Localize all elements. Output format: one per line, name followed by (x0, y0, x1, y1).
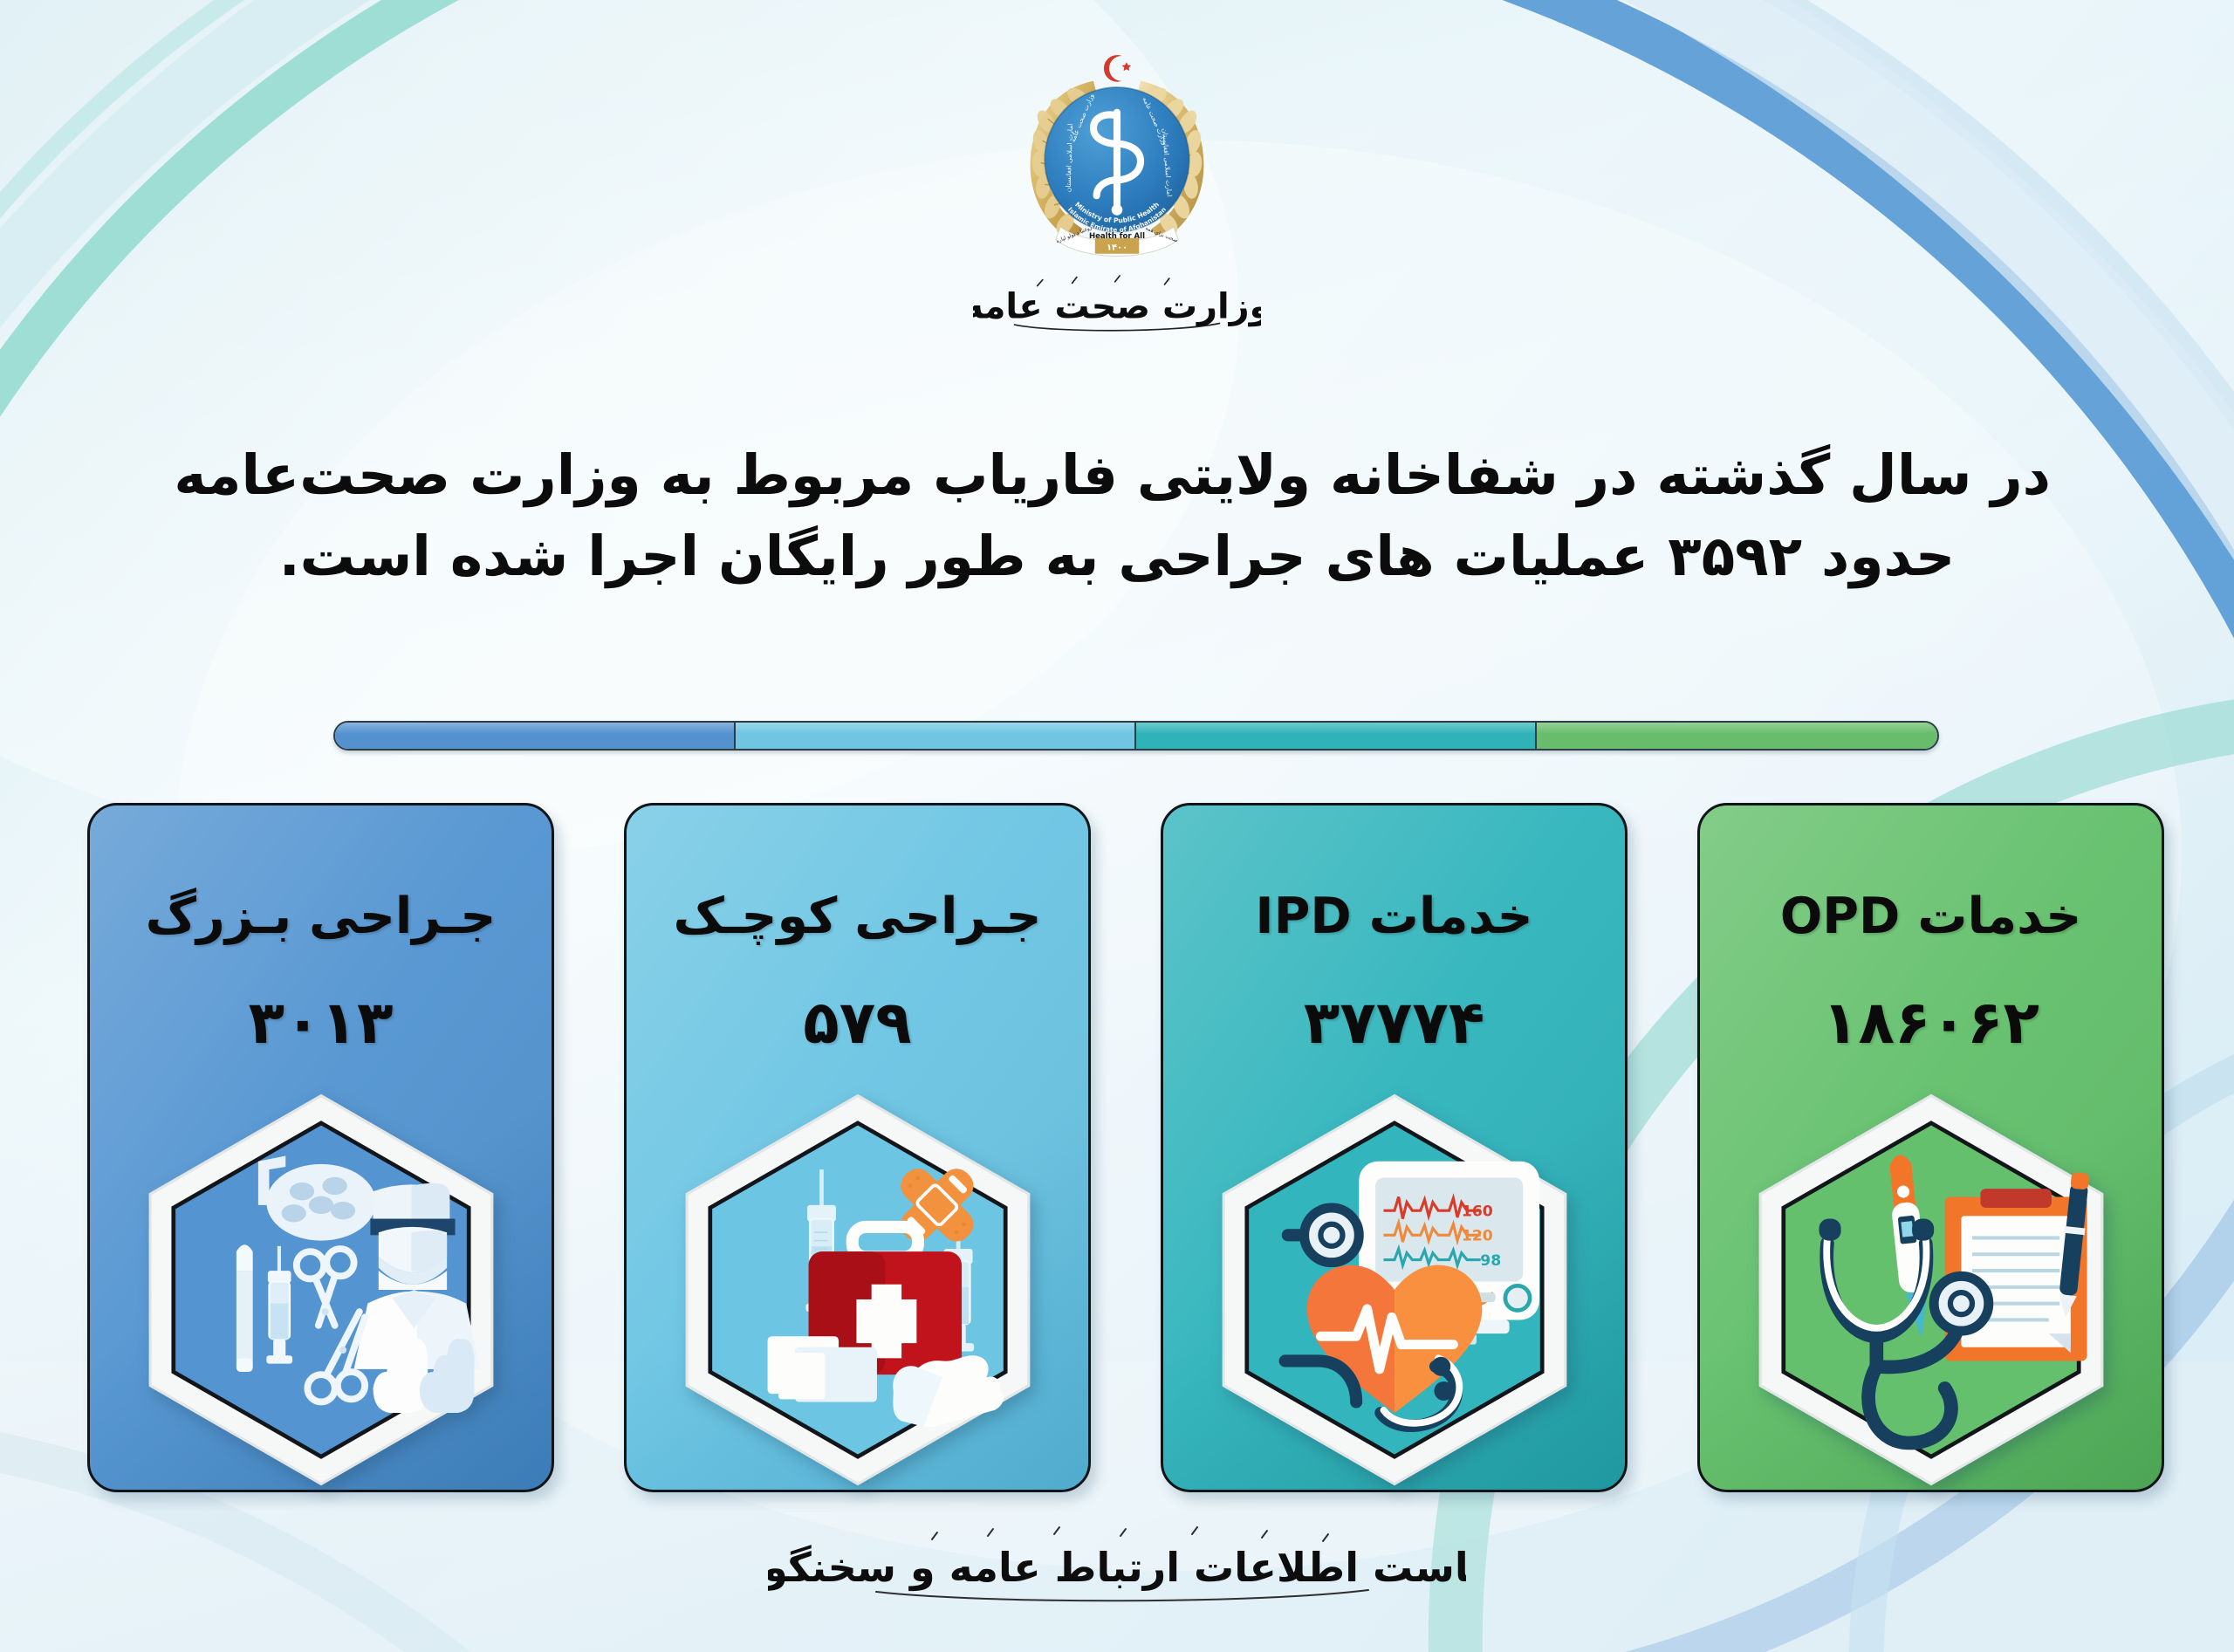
divider-segment-minor-surgery (736, 723, 1136, 749)
hex-badge-ipd: 160 120 98 (1189, 1085, 1600, 1495)
svg-text:وزارت صحت عامه: وزارت صحت عامه (973, 286, 1261, 326)
card-value-minor-surgery: ۵۷۹ (627, 989, 1088, 1058)
heart-monitor-ecg-icon: 160 120 98 (1189, 1085, 1600, 1495)
divider-segment-major-surgery (335, 723, 736, 749)
card-label-major-surgery: جـراحی بـزرگ (90, 888, 552, 945)
divider-segment-ipd (1136, 723, 1537, 749)
monitor-reading-1: 160 (1461, 1203, 1492, 1220)
title-line-2: حدود ۳۵۹۲ عملیات های جراحی به طور رایگان… (183, 516, 2051, 597)
color-divider-bar (333, 721, 1939, 751)
footer: ریاست اطلاعات ارتباط عامه و سخنگوی (0, 1518, 2234, 1614)
stat-card-minor-surgery[interactable]: جـراحی کوچـک ۵۷۹ (624, 803, 1091, 1492)
stethoscope-clipboard-thermometer-icon (1726, 1085, 2136, 1495)
title-line-1: در سال گذشته در شفاخانه ولایتی فاریاب مر… (183, 435, 2051, 516)
hex-badge-minor-surgery (653, 1085, 1063, 1495)
card-label-minor-surgery: جـراحی کوچـک (627, 888, 1088, 945)
svg-text:۱۴۰۰: ۱۴۰۰ (1107, 243, 1127, 252)
hex-badge-opd (1726, 1085, 2136, 1495)
stats-card-row: خدمات OPD ۱۸۶۰۶۲ (87, 803, 2164, 1492)
page-title: در سال گذشته در شفاخانه ولایتی فاریاب مر… (183, 435, 2051, 597)
monitor-reading-3: 98 (1480, 1252, 1501, 1270)
press-office-calligraphy-icon: ریاست اطلاعات ارتباط عامه و سخنگوی (768, 1518, 1466, 1614)
hex-badge-major-surgery (116, 1085, 526, 1495)
card-value-opd: ۱۸۶۰۶۲ (1700, 989, 2162, 1058)
moph-afghanistan-emblem-icon: وزارت صحت عامه امارت اسلامی افغانستان وز… (999, 40, 1235, 276)
surgeon-operating-tools-icon (116, 1085, 526, 1495)
footer-calligraphy-text: ریاست اطلاعات ارتباط عامه و سخنگوی (768, 1544, 1466, 1591)
card-value-ipd: ۳۷۷۷۴ (1163, 989, 1625, 1058)
header: وزارت صحت عامه امارت اسلامی افغانستان وز… (0, 40, 2234, 339)
stat-card-ipd[interactable]: خدمات IPD ۳۷۷۷۴ (1161, 803, 1628, 1492)
monitor-reading-2: 120 (1461, 1228, 1492, 1245)
ministry-calligraphy-icon: وزارت صحت عامه (973, 271, 1261, 339)
svg-text:Health for All: Health for All (1089, 232, 1145, 241)
first-aid-kit-icon (653, 1085, 1063, 1495)
stat-card-major-surgery[interactable]: جـراحی بـزرگ ۳۰۱۳ (87, 803, 554, 1492)
stat-card-opd[interactable]: خدمات OPD ۱۸۶۰۶۲ (1697, 803, 2164, 1492)
card-value-major-surgery: ۳۰۱۳ (90, 989, 552, 1058)
card-label-ipd: خدمات IPD (1163, 888, 1625, 945)
card-label-opd: خدمات OPD (1700, 888, 2162, 945)
divider-segment-opd (1537, 723, 1937, 749)
